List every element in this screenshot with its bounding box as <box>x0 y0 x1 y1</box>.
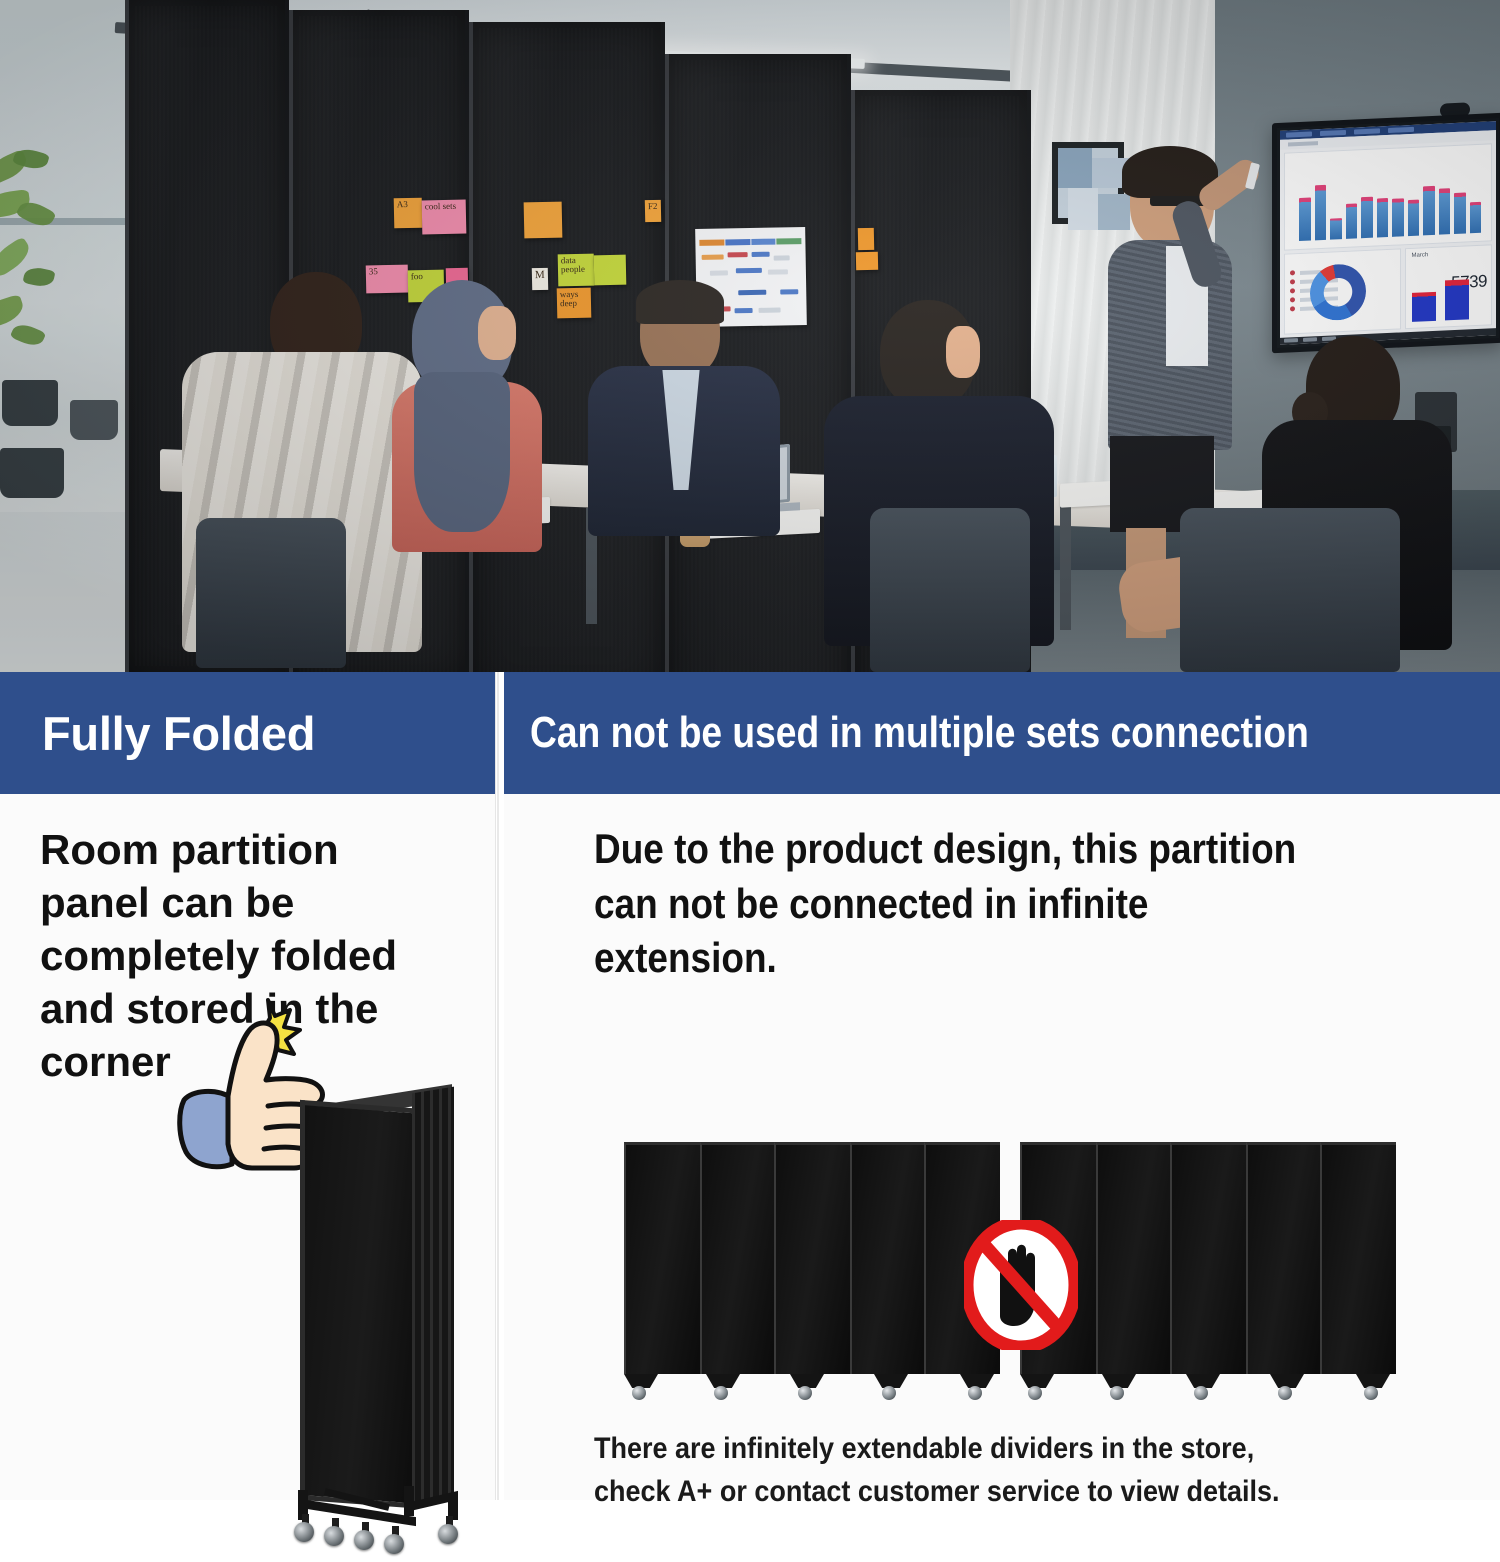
sticky-note: A3 <box>394 198 423 229</box>
left-feature-panel: Fully Folded Room partition panel can be… <box>0 672 496 1500</box>
sticky-note <box>856 252 878 270</box>
partition-panel <box>1096 1142 1170 1374</box>
infographic-page: March 5739 <box>0 0 1500 1500</box>
dashboard-tab[interactable] <box>1320 130 1346 136</box>
dashboard-bar-chart-card <box>1284 143 1492 250</box>
chair <box>196 518 346 668</box>
sticky-note: ways deep <box>557 288 592 319</box>
partition-panel <box>700 1142 774 1374</box>
dashboard-tab[interactable] <box>1286 131 1312 137</box>
caster-wheel <box>354 1530 374 1550</box>
caster-wheel <box>384 1534 404 1554</box>
hero-photo: March 5739 <box>0 0 1500 672</box>
tv-dashboard-screen: March 5739 <box>1280 121 1496 345</box>
right-lead-text: Due to the product design, this partitio… <box>594 822 1298 986</box>
partition-panel <box>1320 1142 1396 1374</box>
glass-tint-overlay <box>0 0 140 672</box>
folded-partition-product <box>286 1092 486 1562</box>
kpi-bar-chart <box>1412 273 1469 322</box>
caster-wheel <box>324 1526 344 1546</box>
partition-panel <box>624 1142 700 1374</box>
dashboard-bar-chart <box>1285 144 1491 249</box>
partition-panel <box>850 1142 924 1374</box>
dashboard-kpi-card: March 5739 <box>1405 244 1492 329</box>
sticky-note: cool sets <box>422 200 467 235</box>
left-panel-body: Room partition panel can be completely f… <box>0 794 495 1500</box>
caster-wheel <box>438 1524 458 1544</box>
feature-panels: Fully Folded Room partition panel can be… <box>0 672 1500 1500</box>
dashboard-tab[interactable] <box>1388 127 1414 133</box>
dashboard-donut-chart <box>1310 262 1366 321</box>
partition-panel <box>1170 1142 1246 1374</box>
product-stacked-panels-edge <box>412 1087 454 1504</box>
partition-set-left <box>624 1142 1000 1400</box>
right-panel-body: Due to the product design, this partitio… <box>504 794 1500 1500</box>
taskbar-item[interactable] <box>1303 337 1317 342</box>
sticky-note: F2 <box>645 200 661 222</box>
product-base-frame <box>288 1490 468 1538</box>
framed-artwork <box>1052 142 1124 224</box>
right-panel-header: Can not be used in multiple sets connect… <box>504 672 1500 794</box>
wall-display-tv: March 5739 <box>1272 113 1500 354</box>
partition-panel <box>774 1142 850 1374</box>
sticky-note: M <box>532 268 548 290</box>
table-leg <box>1060 500 1071 630</box>
sticky-note <box>524 202 563 239</box>
dashboard-donut-card <box>1284 248 1401 334</box>
sticky-note: data people <box>558 254 595 287</box>
sticky-note <box>594 255 627 286</box>
dashboard-tab[interactable] <box>1354 128 1380 134</box>
taskbar-item[interactable] <box>1284 338 1298 343</box>
left-panel-header: Fully Folded <box>0 672 495 794</box>
caster-wheel <box>294 1522 314 1542</box>
left-header-title: Fully Folded <box>42 706 315 761</box>
partition-panel <box>1246 1142 1320 1374</box>
sticky-note: 35 <box>366 265 409 294</box>
right-header-title: Can not be used in multiple sets connect… <box>530 708 1309 758</box>
poster-phase-bar <box>699 238 801 246</box>
right-caption-text: There are infinitely extendable dividers… <box>594 1428 1332 1513</box>
chair <box>870 508 1030 672</box>
column-divider <box>497 672 499 1500</box>
sticky-note <box>858 228 874 250</box>
chair <box>1180 508 1400 672</box>
product-front-face <box>300 1100 412 1508</box>
poster-title <box>695 230 805 237</box>
right-feature-panel: Can not be used in multiple sets connect… <box>504 672 1500 1500</box>
no-hand-prohibited-icon <box>964 1220 1078 1350</box>
